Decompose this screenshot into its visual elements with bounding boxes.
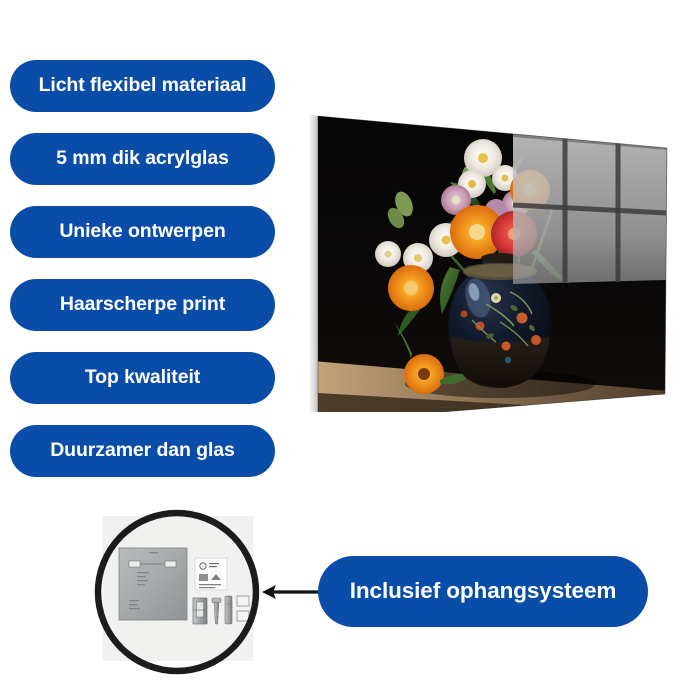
feature-pill-label: Top kwaliteit	[85, 368, 200, 388]
acrylic-edge-left	[309, 114, 318, 412]
feature-pill-label: Duurzamer dan glas	[50, 441, 235, 461]
feature-pill-2[interactable]: 5 mm dik acrylglas	[10, 133, 275, 185]
magnifier-circle-icon	[94, 509, 260, 675]
feature-pill-label: 5 mm dik acrylglas	[56, 149, 229, 169]
window-reflection	[513, 132, 667, 284]
feature-pill-6[interactable]: Duurzamer dan glas	[10, 425, 275, 477]
feature-pill-label: Licht flexibel materiaal	[39, 76, 247, 96]
hanging-system-label: Inclusief ophangsysteem	[350, 580, 617, 603]
product-image-acrylic-print	[300, 92, 680, 412]
artwork-surface	[300, 92, 680, 412]
hanging-system-pill[interactable]: Inclusief ophangsysteem	[318, 556, 648, 627]
feature-pill-3[interactable]: Unieke ontwerpen	[10, 206, 275, 258]
product-feature-infographic: Licht flexibel materiaal 5 mm dik acrylg…	[0, 0, 700, 700]
feature-pill-1[interactable]: Licht flexibel materiaal	[10, 60, 275, 112]
feature-pill-label: Unieke ontwerpen	[59, 222, 225, 242]
feature-pill-label: Haarscherpe print	[60, 295, 225, 315]
arrow-left-icon	[258, 576, 326, 608]
feature-pill-5[interactable]: Top kwaliteit	[10, 352, 275, 404]
feature-pill-4[interactable]: Haarscherpe print	[10, 279, 275, 331]
